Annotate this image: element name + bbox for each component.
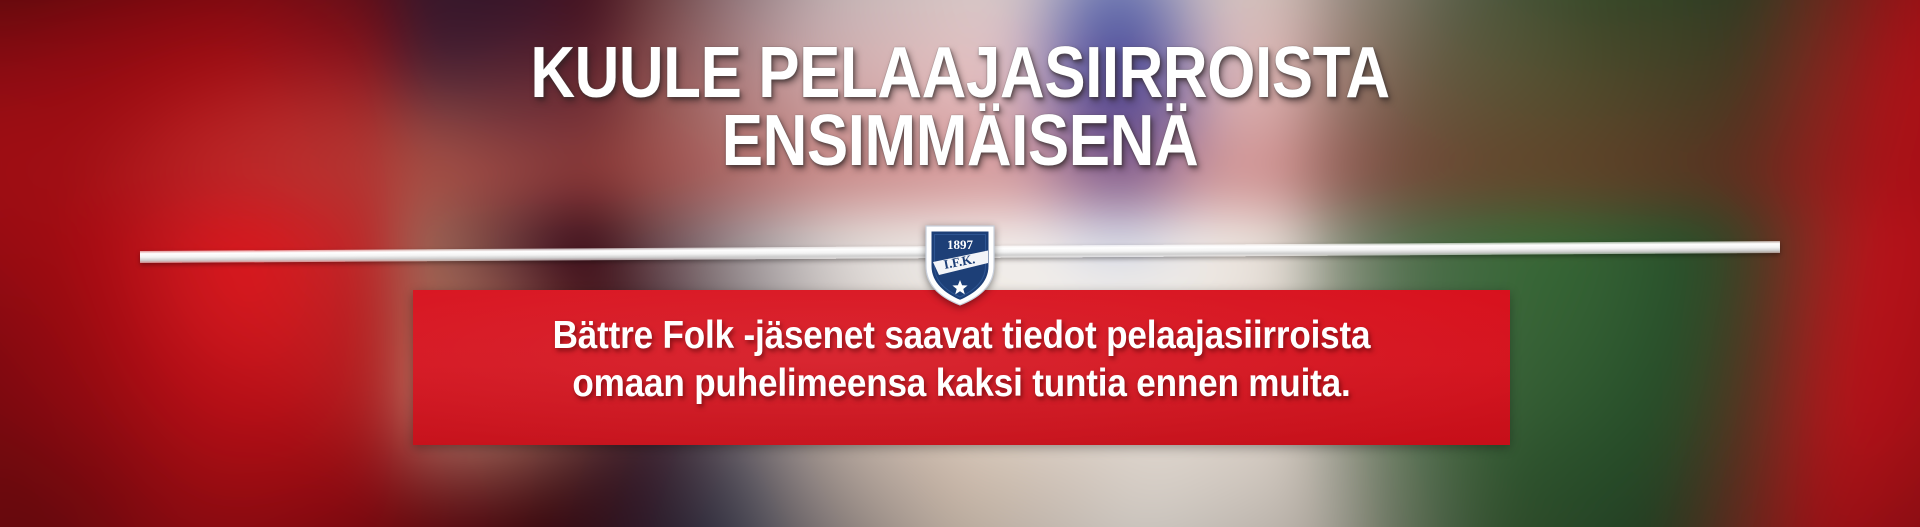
message-box: Bättre Folk -jäsenet saavat tiedot pelaa… (413, 290, 1510, 445)
message-line-2: omaan puhelimeensa kaksi tuntia ennen mu… (468, 360, 1455, 408)
banner-content: KUULE PELAAJASIIRROISTA ENSIMMÄISENÄ 189… (0, 0, 1920, 527)
message-text: Bättre Folk -jäsenet saavat tiedot pelaa… (468, 312, 1455, 407)
page-title: KUULE PELAAJASIIRROISTA ENSIMMÄISENÄ (134, 40, 1785, 175)
headline-line-1: KUULE PELAAJASIIRROISTA (134, 40, 1785, 108)
message-line-1: Bättre Folk -jäsenet saavat tiedot pelaa… (468, 312, 1455, 360)
headline-line-2: ENSIMMÄISENÄ (134, 108, 1785, 176)
svg-text:1897: 1897 (947, 237, 974, 252)
hifk-crest-icon: 1897 I.F.K. (922, 222, 998, 308)
promo-banner: KUULE PELAAJASIIRROISTA ENSIMMÄISENÄ 189… (0, 0, 1920, 527)
